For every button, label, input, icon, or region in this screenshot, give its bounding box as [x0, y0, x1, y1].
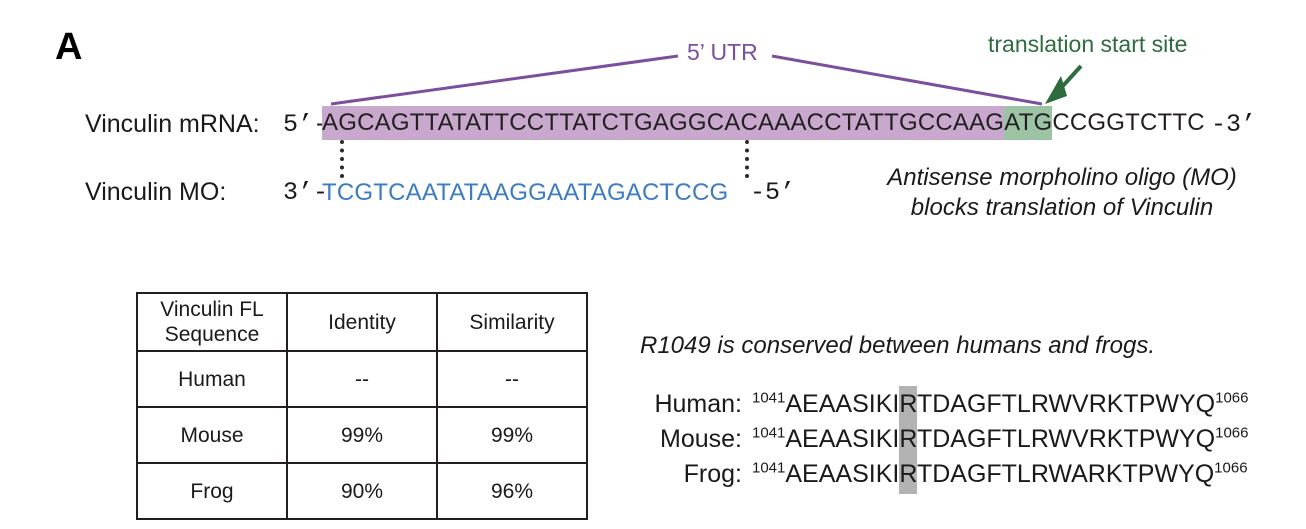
alignment-end-position: 1066: [1215, 425, 1248, 442]
alignment-row: Frog: 1041AEAASIKIRTDAGFTLRWARKTPWYQ1066: [604, 460, 1248, 495]
alignment-start-position: 1041: [752, 390, 785, 407]
table-cell-similarity: 99%: [437, 407, 587, 463]
alignment-suffix: TDAGFTLRWVRKTPWYQ: [917, 421, 1215, 459]
table-row: Human -- --: [137, 351, 587, 407]
alignment-end-position: 1066: [1214, 460, 1247, 477]
table-header-row: Vinculin FLSequence Identity Similarity: [137, 293, 587, 351]
mrna-start-codon-segment: ATG: [1004, 106, 1052, 140]
table-header-similarity: Similarity: [437, 293, 587, 351]
table-cell-species: Human: [137, 351, 287, 407]
pairing-connector-left: [340, 140, 344, 178]
table-cell-identity: 99%: [287, 407, 437, 463]
table-header-identity: Identity: [287, 293, 437, 351]
mo-description-note: Antisense morpholino oligo (MO) blocks t…: [832, 163, 1292, 223]
table-cell-identity: --: [287, 351, 437, 407]
mrna-three-prime-end: -3’: [1211, 112, 1256, 137]
alignment-highlighted-residue: R: [899, 421, 917, 459]
mrna-utr-segment: AGCAGTTATATTCCTTATCTGAGGCACAAACCTATTGCCA…: [322, 106, 1004, 140]
table-row: Mouse 99% 99%: [137, 407, 587, 463]
table-cell-similarity: 96%: [437, 463, 587, 519]
alignment-highlighted-residue: R: [899, 386, 917, 424]
mo-note-line-1: Antisense morpholino oligo (MO): [832, 163, 1292, 193]
alignment-block: Human: 1041AEAASIKIRTDAGFTLRWVRKTPWYQ106…: [604, 390, 1248, 495]
alignment-suffix: TDAGFTLRWVRKTPWYQ: [917, 386, 1215, 424]
translation-start-site-label: translation start site: [988, 33, 1187, 56]
mo-five-prime-end: -5’: [750, 180, 795, 205]
table-cell-similarity: --: [437, 351, 587, 407]
alignment-start-position: 1041: [752, 425, 785, 442]
alignment-suffix: TDAGFTLRWARKTPWYQ: [917, 456, 1214, 494]
mo-sequence: TCGTCAATATAAGGAATAGACTCCG: [322, 178, 728, 208]
alignment-species-label: Frog:: [604, 460, 752, 489]
table-cell-species: Mouse: [137, 407, 287, 463]
mrna-row-label: Vinculin mRNA:: [85, 112, 260, 137]
panel-a-letter: A: [55, 28, 82, 66]
alignment-start-position: 1041: [752, 460, 785, 477]
panel-b: B Vinculin FLSequence Identity Similarit…: [0, 250, 1306, 529]
mo-row-label: Vinculin MO:: [85, 180, 226, 205]
table-header-sequence: Vinculin FLSequence: [137, 293, 287, 351]
pairing-connector-right: [745, 140, 749, 178]
alignment-prefix: AEAASIKI: [785, 421, 899, 459]
table-cell-species: Frog: [137, 463, 287, 519]
alignment-sequence: 1041AEAASIKIRTDAGFTLRWVRKTPWYQ1066: [752, 390, 1248, 419]
alignment-species-label: Mouse:: [604, 425, 752, 454]
alignment-prefix: AEAASIKI: [785, 386, 899, 424]
translation-start-arrow-icon: [1035, 62, 1095, 110]
alignment-sequence: 1041AEAASIKIRTDAGFTLRWVRKTPWYQ1066: [752, 425, 1248, 454]
alignment-title: R1049 is conserved between humans and fr…: [640, 334, 1155, 358]
mrna-sequence: AGCAGTTATATTCCTTATCTGAGGCACAAACCTATTGCCA…: [322, 108, 1205, 138]
identity-similarity-table: Vinculin FLSequence Identity Similarity …: [136, 292, 588, 520]
alignment-highlighted-residue: R: [899, 456, 917, 494]
alignment-prefix: AEAASIKI: [785, 456, 899, 494]
alignment-species-label: Human:: [604, 390, 752, 419]
alignment-row: Mouse: 1041AEAASIKIRTDAGFTLRWVRKTPWYQ106…: [604, 425, 1248, 460]
alignment-row: Human: 1041AEAASIKIRTDAGFTLRWVRKTPWYQ106…: [604, 390, 1248, 425]
panel-a: A 5’ UTR translation start site Vinculin…: [0, 0, 1306, 250]
table-row: Frog 90% 96%: [137, 463, 587, 519]
alignment-end-position: 1066: [1215, 390, 1248, 407]
figure-root: A 5’ UTR translation start site Vinculin…: [0, 0, 1306, 529]
alignment-sequence: 1041AEAASIKIRTDAGFTLRWARKTPWYQ1066: [752, 460, 1248, 489]
mo-note-line-2: blocks translation of Vinculin: [832, 193, 1292, 223]
utr-label: 5’ UTR: [687, 41, 758, 64]
mrna-cds-segment: CCGGTCTTC: [1052, 106, 1204, 140]
table-cell-identity: 90%: [287, 463, 437, 519]
